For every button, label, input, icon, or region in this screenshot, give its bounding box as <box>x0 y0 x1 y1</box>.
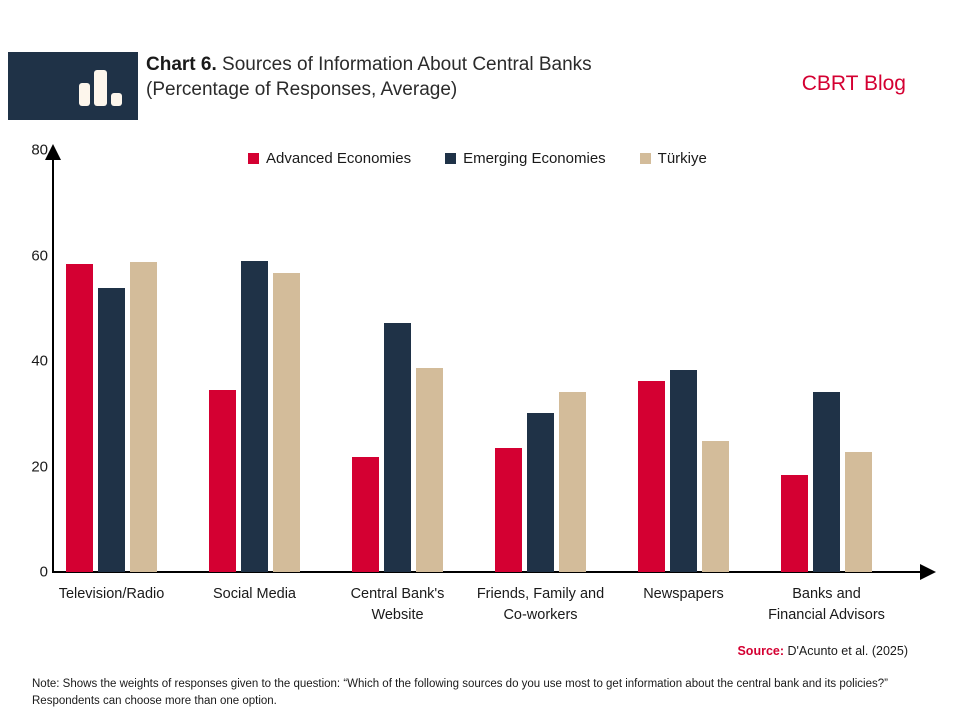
chart-note: Note: Shows the weights of responses giv… <box>32 676 912 711</box>
x-axis-label-line: Television/Radio <box>32 584 192 605</box>
source-label: Source: <box>737 644 784 658</box>
x-axis-label-5: Banks andFinancial Advisors <box>747 584 907 626</box>
source-line: Source: D'Acunto et al. (2025) <box>737 644 908 658</box>
x-axis-label-line: Friends, Family and <box>461 584 621 605</box>
x-axis-label-3: Friends, Family andCo-workers <box>461 584 621 626</box>
x-axis-label-4: Newspapers <box>604 584 764 605</box>
x-axis-label-0: Television/Radio <box>32 584 192 605</box>
x-axis-label-line: Newspapers <box>604 584 764 605</box>
x-axis-label-line: Co-workers <box>461 605 621 626</box>
x-axis-label-1: Social Media <box>175 584 335 605</box>
x-axis-label-line: Website <box>318 605 478 626</box>
x-axis-label-line: Financial Advisors <box>747 605 907 626</box>
x-axis-label-line: Banks and <box>747 584 907 605</box>
x-axis-category-labels: Television/RadioSocial MediaCentral Bank… <box>0 0 960 720</box>
x-axis-label-2: Central Bank'sWebsite <box>318 584 478 626</box>
source-citation: D'Acunto et al. (2025) <box>784 644 908 658</box>
plot-area: 020406080 Television/RadioSocial MediaCe… <box>0 0 960 720</box>
x-axis-label-line: Central Bank's <box>318 584 478 605</box>
x-axis-label-line: Social Media <box>175 584 335 605</box>
